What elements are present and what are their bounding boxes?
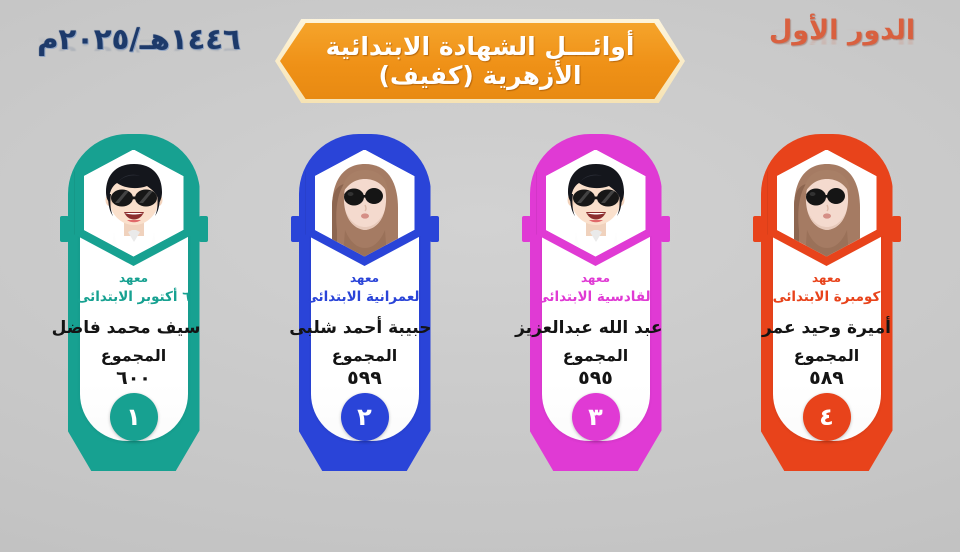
round-block: الدور الأول الدور الأول — [742, 17, 942, 74]
card-tab-left — [291, 216, 300, 242]
institute-name: القادسية الابتدائى — [529, 289, 663, 307]
total-score: ٥٨٩ — [760, 367, 894, 390]
card-text-block: معهد٦ أكتوبر الابتدائىسيف محمد فاضلالمجم… — [67, 271, 201, 390]
title-banner: أوائـــل الشهادة الابتدائية الأزهرية (كف… — [275, 19, 685, 103]
total-label: المجموع — [67, 346, 201, 366]
card-text-block: معهدالعمرانية الابتدائىحبيبة أحمد شلبىال… — [298, 271, 432, 390]
rank-badge: ١ — [110, 393, 158, 441]
institute-name: ٦ أكتوبر الابتدائى — [67, 289, 201, 307]
girl-hijab-sunglasses-avatar — [315, 150, 415, 257]
card-tab-left — [753, 216, 762, 242]
boy-sunglasses-avatar — [84, 150, 184, 257]
title-line-2: الأزهرية (كفيف) — [378, 62, 581, 89]
date-block: ١٤٤٦هـ/٢٠٢٥م ١٤٤٦هـ/٢٠٢٥م — [14, 24, 264, 86]
rank-number: ٣ — [588, 405, 603, 429]
avatar — [315, 150, 415, 257]
winner-card[interactable]: معهدكومبرة الابتدائىأميرة وحيد عمرالمجمو… — [752, 128, 902, 483]
total-score: ٥٩٥ — [529, 367, 663, 390]
student-name: أميرة وحيد عمر — [760, 318, 894, 339]
winner-card[interactable]: معهدالعمرانية الابتدائىحبيبة أحمد شلبىال… — [290, 128, 440, 483]
card-tab-left — [60, 216, 69, 242]
girl-hijab-sunglasses-avatar — [777, 150, 877, 257]
student-name: سيف محمد فاضل — [67, 318, 201, 339]
round-label-reflection: الدور الأول — [742, 28, 942, 45]
card-tab-right — [892, 216, 901, 242]
rank-number: ٢ — [357, 405, 372, 429]
rank-number: ١ — [126, 405, 141, 429]
total-label: المجموع — [760, 346, 894, 366]
card-tab-right — [199, 216, 208, 242]
card-tab-right — [430, 216, 439, 242]
boy-sunglasses-avatar — [546, 150, 646, 257]
student-name: عبد الله عبدالعزيز — [529, 318, 663, 339]
institute-prefix-label: معهد — [529, 271, 663, 286]
institute-prefix-label: معهد — [298, 271, 432, 286]
avatar — [777, 150, 877, 257]
card-text-block: معهدكومبرة الابتدائىأميرة وحيد عمرالمجمو… — [760, 271, 894, 390]
rank-number: ٤ — [819, 405, 834, 429]
total-score: ٥٩٩ — [298, 367, 432, 390]
card-tab-right — [661, 216, 670, 242]
institute-name: العمرانية الابتدائى — [298, 289, 432, 307]
winners-row: معهدكومبرة الابتدائىأميرة وحيد عمرالمجمو… — [0, 128, 960, 488]
avatar — [546, 150, 646, 257]
rank-badge: ٢ — [341, 393, 389, 441]
card-text-block: معهدالقادسية الابتدائىعبد الله عبدالعزيز… — [529, 271, 663, 390]
institute-prefix-label: معهد — [67, 271, 201, 286]
card-tab-left — [522, 216, 531, 242]
title-banner-fill: أوائـــل الشهادة الابتدائية الأزهرية (كف… — [280, 23, 680, 99]
date-reflection: ١٤٤٦هـ/٢٠٢٥م — [14, 37, 264, 56]
avatar — [84, 150, 184, 257]
institute-name: كومبرة الابتدائى — [760, 289, 894, 307]
total-score: ٦٠٠ — [67, 367, 201, 390]
rank-badge: ٤ — [803, 393, 851, 441]
poster-header: ١٤٤٦هـ/٢٠٢٥م ١٤٤٦هـ/٢٠٢٥م أوائـــل الشها… — [0, 0, 960, 120]
rank-badge: ٣ — [572, 393, 620, 441]
institute-prefix-label: معهد — [760, 271, 894, 286]
winner-card[interactable]: معهدالقادسية الابتدائىعبد الله عبدالعزيز… — [521, 128, 671, 483]
total-label: المجموع — [529, 346, 663, 366]
winner-card[interactable]: معهد٦ أكتوبر الابتدائىسيف محمد فاضلالمجم… — [59, 128, 209, 483]
total-label: المجموع — [298, 346, 432, 366]
title-line-1: أوائـــل الشهادة الابتدائية — [326, 33, 635, 60]
student-name: حبيبة أحمد شلبى — [298, 318, 432, 339]
